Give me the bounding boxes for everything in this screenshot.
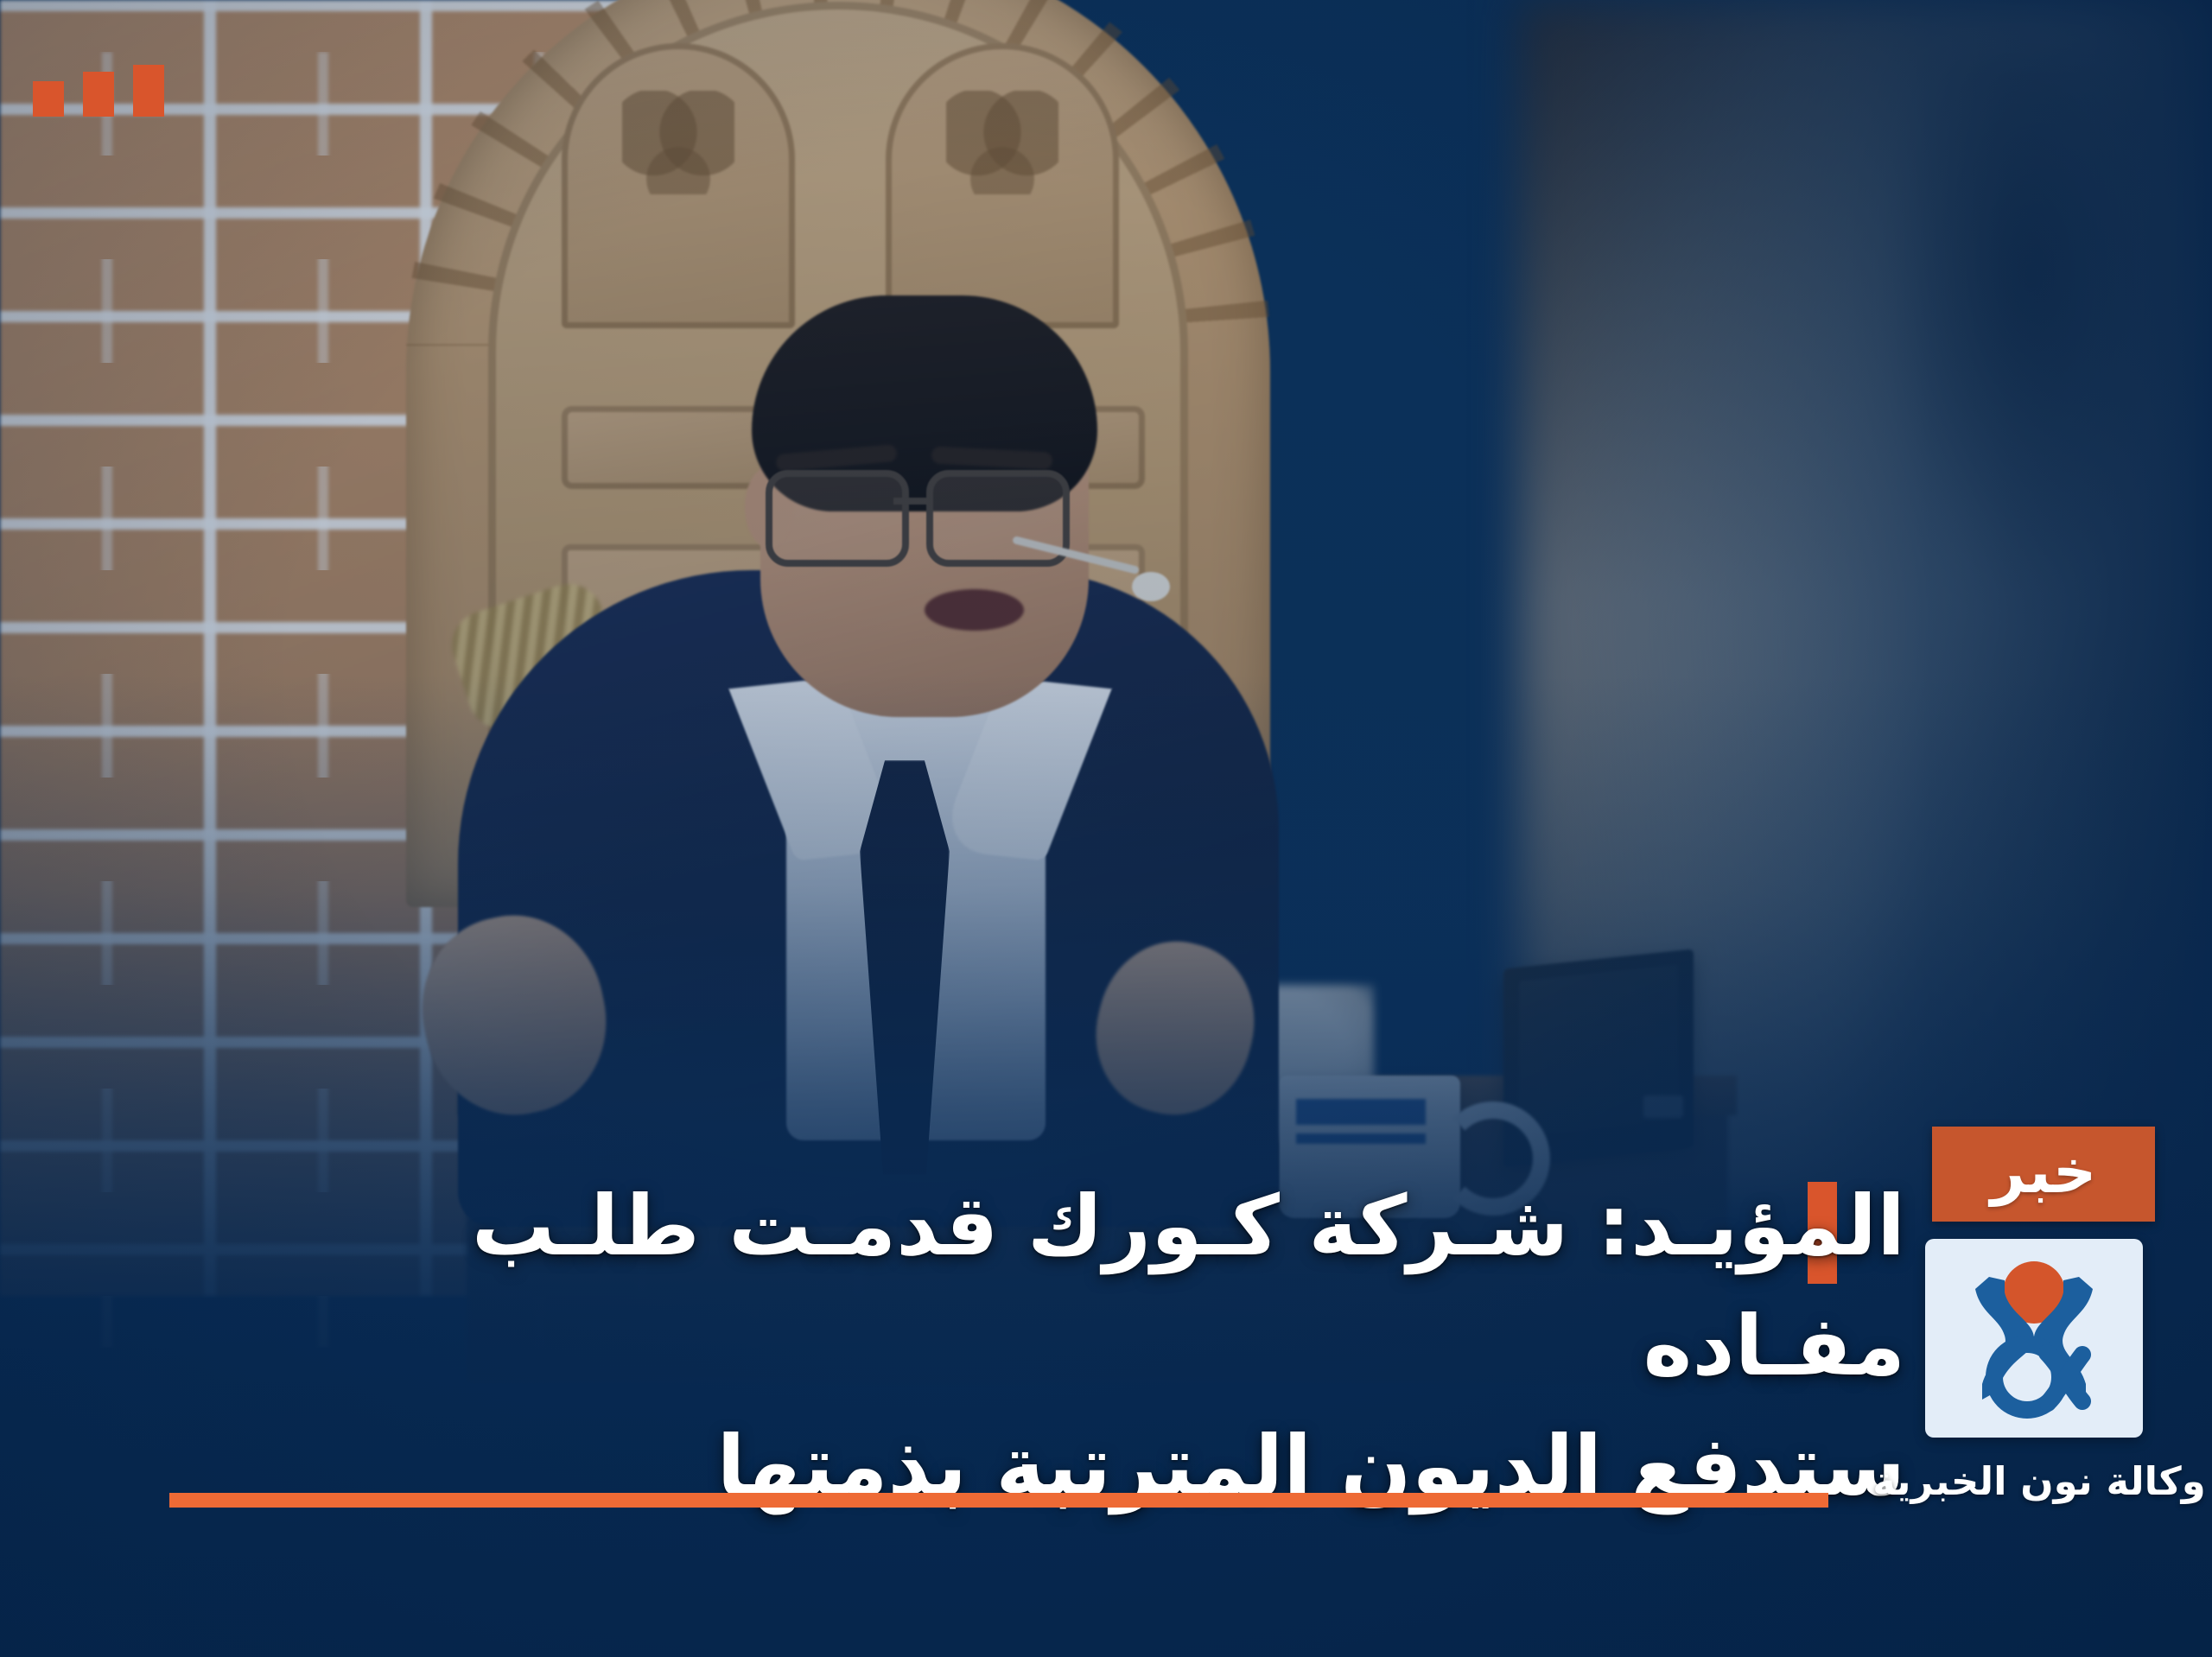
agency-logo [1925, 1239, 2143, 1438]
page-title: المؤيـد: شـركة كـورك قدمـت طلـب مفـاده س… [220, 1166, 1905, 1527]
status-badge: خبر [1932, 1127, 2155, 1222]
mark-bar-1 [133, 65, 164, 117]
mark-bar-3 [33, 81, 64, 117]
news-badge-label: خبر [1991, 1141, 2097, 1202]
headline-line-1: المؤيـد: شـركة كـورك قدمـت طلـب مفـاده [472, 1178, 1905, 1394]
agency-name: وكالة نون الخبرية [1858, 1458, 2212, 1504]
footer-divider [169, 1493, 1828, 1508]
headline-block: المؤيـد: شـركة كـورك قدمـت طلـب مفـاده س… [220, 1166, 1905, 1527]
three-bar-mark [33, 65, 164, 117]
news-card: المؤيـد: شـركة كـورك قدمـت طلـب مفـاده س… [0, 0, 2212, 1657]
mark-bar-2 [83, 72, 114, 117]
agency-logo-icon [1925, 1239, 2143, 1438]
headline-line-2: ستدفع الديون المترتبة بذمتها [220, 1406, 1905, 1527]
